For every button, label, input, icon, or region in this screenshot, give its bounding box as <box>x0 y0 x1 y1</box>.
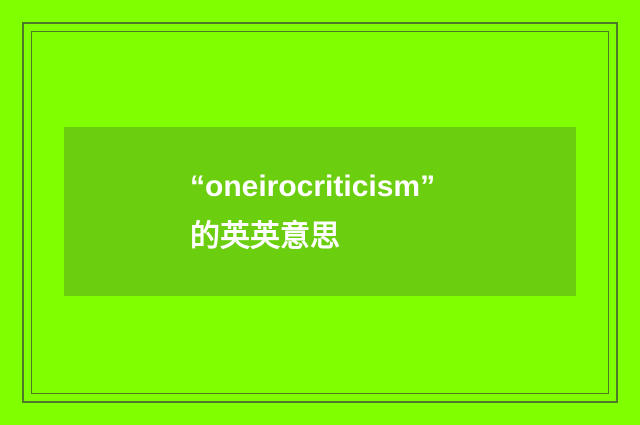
slide-canvas: “oneirocriticism” 的英英意思 <box>0 0 640 425</box>
headline-text: “oneirocriticism” 的英英意思 <box>190 162 450 262</box>
headline-panel: “oneirocriticism” 的英英意思 <box>64 127 576 296</box>
